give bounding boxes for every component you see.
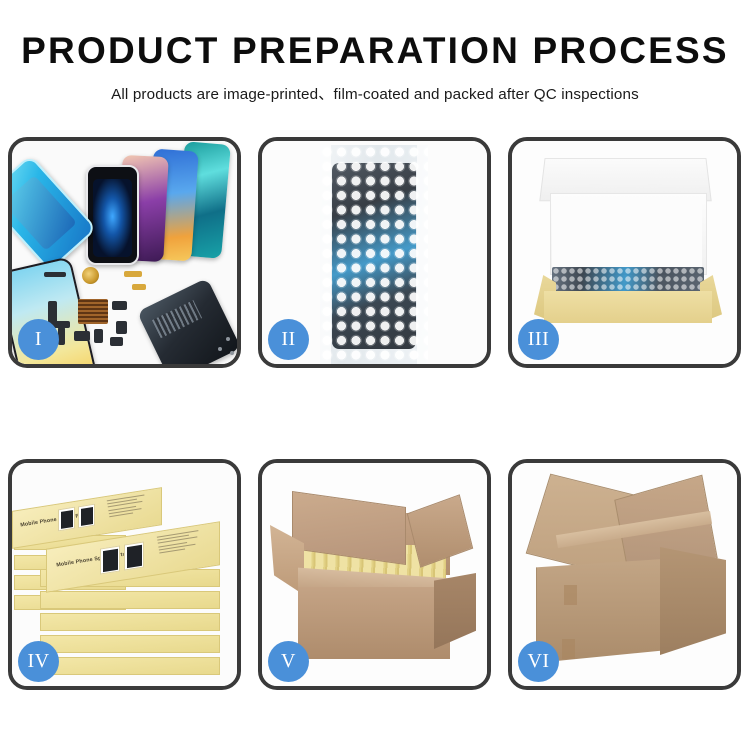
part-flex-cable-4 <box>112 301 127 310</box>
carton-seam-lower <box>562 639 575 659</box>
step-badge-6: VI <box>518 641 559 682</box>
wrap-edge-left <box>320 145 331 364</box>
carton-seam-upper <box>564 585 577 605</box>
part-speaker-bar <box>44 272 66 277</box>
step-panel-3: III <box>508 137 741 368</box>
part-copper-mesh <box>78 299 108 324</box>
product-preparation-page: PRODUCT PREPARATION PROCESS All products… <box>0 0 750 750</box>
retail-box-f2 <box>40 591 220 609</box>
part-wireless-coil <box>82 267 99 284</box>
retail-box-screen-img-1 <box>58 507 75 532</box>
sealed-carton-side <box>660 547 726 655</box>
adhesive-film-blue <box>12 154 97 271</box>
retail-box-screen-img-2 <box>78 504 95 529</box>
step-panel-2: II <box>258 137 491 368</box>
box-foam-liner <box>552 201 702 271</box>
retail-box-screen-img-4 <box>124 541 144 570</box>
part-flex-cable-8 <box>110 337 123 346</box>
step-panel-6: VI <box>508 459 741 690</box>
part-screw-3 <box>230 351 234 355</box>
step-badge-1: I <box>18 319 59 360</box>
part-volume-button <box>124 271 142 277</box>
page-title: PRODUCT PREPARATION PROCESS <box>0 32 750 71</box>
part-flex-cable-3 <box>58 327 65 345</box>
step-badge-2: II <box>268 319 309 360</box>
part-screw-2 <box>218 347 222 351</box>
step-panel-5: V <box>258 459 491 690</box>
page-subtitle: All products are image-printed、film-coat… <box>0 82 750 104</box>
wrap-edge-right <box>417 145 428 364</box>
step-badge-3: III <box>518 319 559 360</box>
step-panel-4: Mobile Phone Spare Parts Mobile Phone Sp… <box>8 459 241 690</box>
sealed-carton-front <box>536 559 663 663</box>
retail-box-f5 <box>40 657 220 675</box>
retail-box-f4 <box>40 635 220 653</box>
process-steps-grid: I II <box>8 137 742 690</box>
page-header: PRODUCT PREPARATION PROCESS All products… <box>0 0 750 104</box>
carton-side-panel <box>434 573 476 649</box>
retail-box-f3 <box>40 613 220 631</box>
step-badge-5: V <box>268 641 309 682</box>
step-badge-4: IV <box>18 641 59 682</box>
part-flex-cable-5 <box>116 321 127 334</box>
part-flex-cable-6 <box>74 331 90 341</box>
part-flex-cable-7 <box>94 329 103 343</box>
retail-box-screen-img-3 <box>100 545 120 574</box>
carton-front-panel <box>298 587 450 659</box>
phone-screen-black <box>86 165 139 265</box>
carton-flap-right-open <box>407 494 473 568</box>
box-content-wrapped-screen <box>552 267 704 293</box>
bubble-wrap-sleeve <box>320 145 428 364</box>
phone-back-housing <box>137 278 237 364</box>
box-front-panel <box>544 291 712 323</box>
step-panel-1: I <box>8 137 241 368</box>
part-flex-cable-1 <box>48 301 57 323</box>
bubble-texture <box>320 145 428 364</box>
part-screw-1 <box>226 337 230 341</box>
part-power-button <box>132 284 146 290</box>
